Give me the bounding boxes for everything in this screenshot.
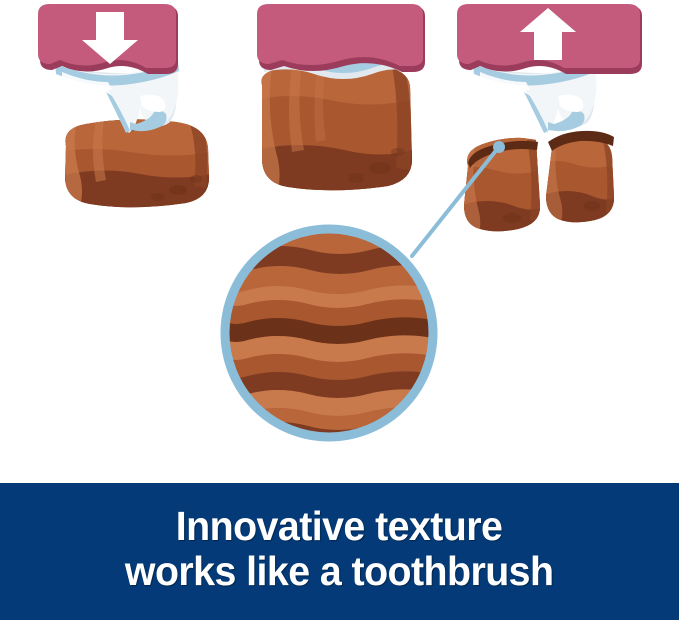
illustration-scene	[0, 0, 679, 483]
infographic-root: Innovative texture works like a toothbru…	[0, 0, 679, 620]
kibble2-speck-c	[391, 148, 405, 156]
kibbleL-speck	[503, 213, 521, 223]
illustration-svg	[0, 0, 679, 483]
caption-line-1: Innovative texture	[176, 504, 502, 548]
panel-2-kibble	[256, 59, 418, 196]
kibble2-speck-a	[369, 162, 391, 174]
pointer-dot	[493, 141, 505, 153]
magnifier-circle	[225, 229, 433, 437]
panel-1-gum	[38, 4, 178, 74]
caption-line-2: works like a toothbrush	[125, 549, 554, 593]
panel-2-gum	[257, 4, 425, 72]
kibble-speck-c	[190, 175, 202, 183]
gum2-body	[257, 4, 423, 66]
kibbleR-speck	[584, 201, 600, 211]
panel-2-group	[256, 4, 425, 196]
panel-3-gum	[457, 4, 642, 74]
kibble2-speck-b	[348, 173, 364, 183]
kibble-speck-a	[169, 185, 187, 195]
caption-banner: Innovative texture works like a toothbru…	[0, 483, 679, 620]
kibble-speck-b	[151, 193, 165, 201]
